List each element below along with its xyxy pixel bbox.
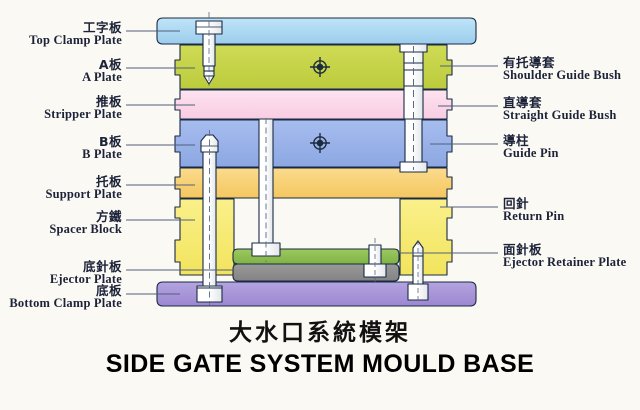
label-shoulder-guide-bush-en: Shoulder Guide Bush: [503, 69, 621, 82]
label-ejector-retainer-plate-cn: 面針板: [503, 243, 626, 256]
label-bottom-clamp-plate-cn: 底板: [0, 284, 122, 297]
label-b-plate: B板 B Plate: [0, 135, 122, 162]
label-straight-guide-bush: 直導套 Straight Guide Bush: [503, 96, 617, 123]
label-ejector-plate-cn: 底針板: [0, 260, 122, 273]
label-b-plate-en: B Plate: [0, 148, 122, 161]
label-return-pin-en: Return Pin: [503, 210, 564, 223]
label-straight-guide-bush-en: Straight Guide Bush: [503, 109, 617, 122]
label-stripper-plate: 推板 Stripper Plate: [0, 95, 122, 122]
label-shoulder-guide-bush-cn: 有托導套: [503, 56, 621, 69]
label-bottom-clamp-plate: 底板 Bottom Clamp Plate: [0, 284, 122, 311]
label-a-plate-en: A Plate: [0, 71, 122, 84]
plate-spacer-block-right: [400, 199, 452, 275]
label-stripper-plate-en: Stripper Plate: [0, 108, 122, 121]
diagram-title-en: SIDE GATE SYSTEM MOULD BASE: [0, 350, 640, 379]
label-top-clamp-plate-en: Top Clamp Plate: [0, 34, 122, 47]
label-spacer-block: 方鐵 Spacer Block: [0, 210, 122, 237]
label-spacer-block-en: Spacer Block: [0, 223, 122, 236]
label-return-pin: 回針 Return Pin: [503, 197, 564, 224]
diagram-title: 大水口系統模架 SIDE GATE SYSTEM MOULD BASE: [0, 313, 640, 379]
label-top-clamp-plate: 工字板 Top Clamp Plate: [0, 21, 122, 48]
label-guide-pin: 導柱 Guide Pin: [503, 134, 559, 161]
label-stripper-plate-cn: 推板: [0, 95, 122, 108]
label-shoulder-guide-bush: 有托導套 Shoulder Guide Bush: [503, 56, 621, 83]
label-support-plate-en: Support Plate: [0, 188, 122, 201]
label-guide-pin-en: Guide Pin: [503, 147, 559, 160]
label-ejector-retainer-plate: 面針板 Ejector Retainer Plate: [503, 243, 626, 270]
label-top-clamp-plate-cn: 工字板: [0, 21, 122, 34]
label-spacer-block-cn: 方鐵: [0, 210, 122, 223]
diagram-title-cn: 大水口系統模架: [0, 313, 640, 347]
label-a-plate: A板 A Plate: [0, 58, 122, 85]
label-ejector-retainer-plate-en: Ejector Retainer Plate: [503, 256, 626, 269]
label-support-plate-cn: 托板: [0, 175, 122, 188]
label-bottom-clamp-plate-en: Bottom Clamp Plate: [0, 297, 122, 310]
label-return-pin-cn: 回針: [503, 197, 564, 210]
label-support-plate: 托板 Support Plate: [0, 175, 122, 202]
label-guide-pin-cn: 導柱: [503, 134, 559, 147]
label-b-plate-cn: B板: [0, 135, 122, 148]
label-a-plate-cn: A板: [0, 58, 122, 71]
label-straight-guide-bush-cn: 直導套: [503, 96, 617, 109]
